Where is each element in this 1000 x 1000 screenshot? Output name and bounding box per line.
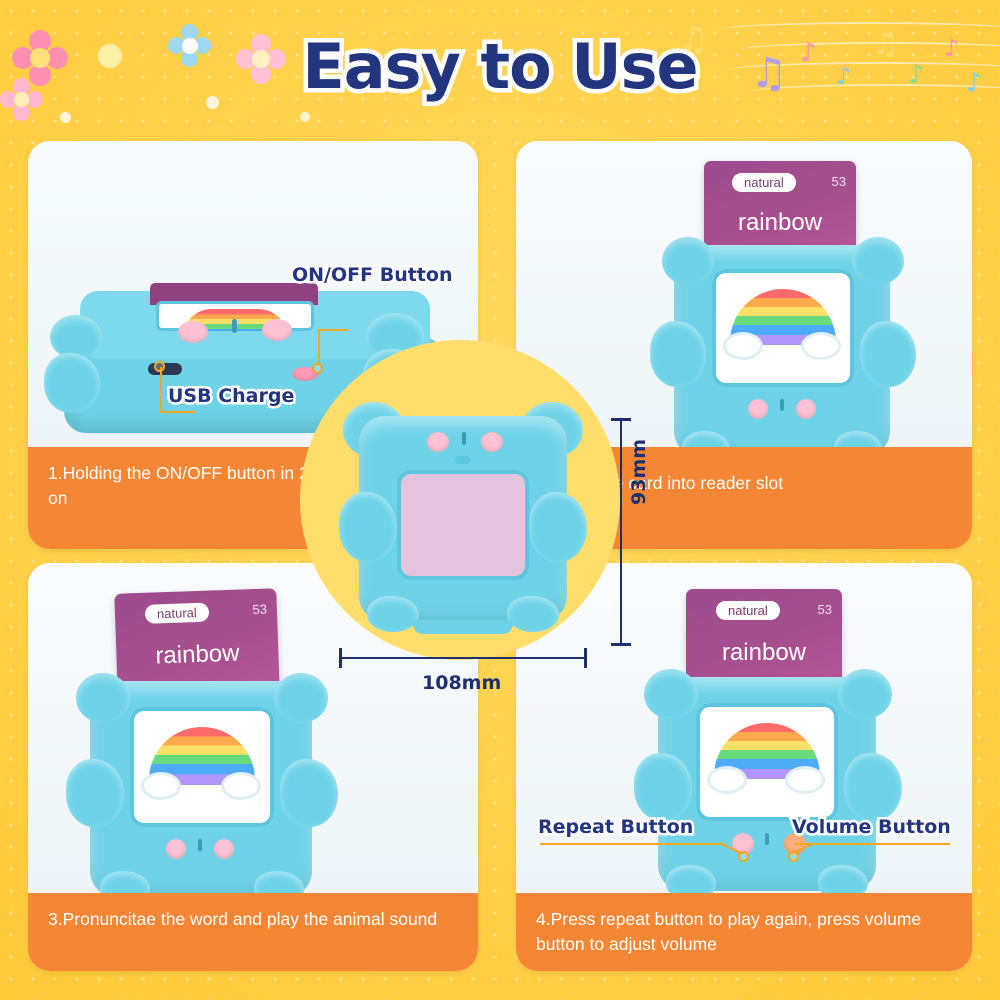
device-paw-left bbox=[44, 353, 100, 413]
hero-device bbox=[345, 408, 581, 630]
usb-lead-horizontal bbox=[160, 411, 196, 413]
device-foot-left bbox=[367, 596, 419, 632]
flashcard: natural 53 rainbow bbox=[686, 589, 842, 689]
page-title: Easy to Use bbox=[0, 30, 1000, 103]
device-screen bbox=[130, 707, 274, 827]
device-ear-left bbox=[644, 669, 698, 719]
device-ear-left bbox=[76, 673, 130, 723]
device-nose bbox=[455, 456, 471, 464]
flashcard-number: 53 bbox=[832, 174, 846, 189]
circle-decoration bbox=[300, 112, 310, 122]
microphone-slot bbox=[780, 399, 784, 411]
volume-button[interactable] bbox=[214, 839, 234, 859]
cloud-icon bbox=[224, 775, 258, 797]
music-note-icon: ♪ bbox=[2, 378, 17, 402]
dim-width-label: 108mm bbox=[422, 672, 501, 694]
onoff-lead-vertical bbox=[318, 329, 320, 365]
cloud-icon bbox=[804, 335, 838, 357]
cloud-icon bbox=[726, 335, 760, 357]
device-foot-right bbox=[507, 596, 559, 632]
microphone-slot bbox=[462, 432, 466, 445]
onoff-button-callout: ON/OFF Button bbox=[292, 264, 452, 286]
volume-button-callout: Volume Button bbox=[792, 816, 951, 838]
repeat-button-marker bbox=[738, 851, 749, 862]
step-4-caption: 4.Press repeat button to play again, pre… bbox=[516, 893, 972, 971]
repeat-button[interactable] bbox=[748, 399, 768, 419]
device-ear-left bbox=[50, 315, 102, 359]
cloud-icon bbox=[710, 769, 744, 791]
device-screen bbox=[712, 269, 854, 387]
dim-vertical-cap-bottom bbox=[611, 643, 631, 646]
usb-lead-vertical bbox=[160, 367, 162, 411]
usb-charge-callout: USB Charge bbox=[168, 385, 294, 407]
volume-button-marker bbox=[788, 851, 799, 862]
repeat-button[interactable] bbox=[427, 432, 449, 452]
dim-horizontal-cap-right bbox=[584, 648, 587, 668]
volume-button[interactable] bbox=[796, 399, 816, 419]
step-3-caption: 3.Pronuncitae the word and play the anim… bbox=[28, 893, 478, 971]
device-paw-left bbox=[66, 759, 124, 827]
dim-height-label: 93mm bbox=[628, 439, 650, 505]
dim-vertical-cap-top bbox=[611, 418, 631, 421]
music-note-icon: ♪ bbox=[974, 626, 988, 648]
dim-horizontal-line bbox=[340, 657, 586, 659]
device-paw-left bbox=[650, 321, 706, 387]
device-screen bbox=[397, 470, 529, 580]
device-stand bbox=[413, 620, 513, 634]
cloud-icon bbox=[788, 769, 822, 791]
microphone-slot bbox=[198, 839, 202, 851]
repeat-button[interactable] bbox=[178, 321, 208, 343]
device-paw-right bbox=[280, 759, 338, 827]
device-ear-left bbox=[662, 237, 714, 285]
cloud-icon bbox=[144, 775, 178, 797]
flashcard-tag: natural bbox=[732, 173, 796, 192]
volume-button[interactable] bbox=[262, 319, 292, 341]
circle-decoration bbox=[60, 112, 71, 123]
flashcard-word: rainbow bbox=[704, 209, 856, 237]
dim-vertical-line bbox=[620, 418, 622, 646]
device-ear-right bbox=[838, 669, 892, 719]
microphone-slot bbox=[232, 319, 237, 333]
device-ear-right bbox=[274, 673, 328, 723]
device-paw-right bbox=[529, 492, 587, 562]
device-paw-left bbox=[339, 492, 397, 562]
step-4-photo: natural 53 rainbow Repeat Button Volume … bbox=[516, 563, 972, 893]
flashcard-number: 53 bbox=[252, 602, 267, 617]
device-paw-right bbox=[844, 753, 902, 821]
flashcard-tag: natural bbox=[145, 603, 209, 624]
flashcard-word: rainbow bbox=[686, 639, 842, 667]
device-ear-right bbox=[852, 237, 904, 285]
repeat-lead-horizontal bbox=[540, 843, 724, 845]
dim-horizontal-cap-left bbox=[339, 648, 342, 668]
repeat-button[interactable] bbox=[166, 839, 186, 859]
volume-button[interactable] bbox=[481, 432, 503, 452]
device-paw-right bbox=[860, 321, 916, 387]
onoff-lead-horizontal bbox=[318, 329, 348, 331]
step-panel-4: natural 53 rainbow Repeat Button Volume … bbox=[516, 563, 972, 971]
flashcard: natural 53 rainbow bbox=[114, 588, 279, 696]
flashcard-tag: natural bbox=[716, 601, 780, 620]
device-screen bbox=[696, 703, 838, 821]
flashcard-word: rainbow bbox=[116, 638, 279, 672]
repeat-button-callout: Repeat Button bbox=[538, 816, 693, 838]
flashcard-number: 53 bbox=[818, 602, 832, 617]
device-paw-left bbox=[634, 753, 692, 821]
microphone-slot bbox=[765, 833, 769, 845]
volume-lead-horizontal bbox=[794, 843, 950, 845]
